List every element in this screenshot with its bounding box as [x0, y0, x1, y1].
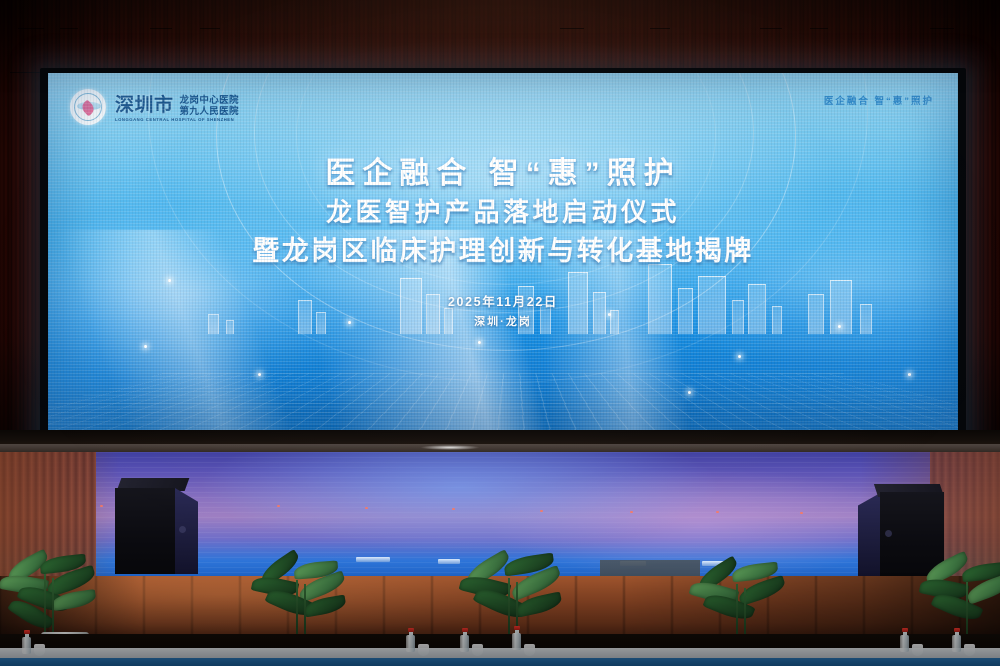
- stage-floor-object-midl: [438, 559, 460, 564]
- wall-seam: [810, 28, 828, 29]
- water-bottle: [406, 628, 416, 652]
- wall-seam: [760, 28, 782, 29]
- wall-seam: [10, 72, 40, 73]
- paper-cup: [524, 644, 535, 656]
- front-row-table-skirt: [0, 658, 1000, 666]
- led-screen: 深圳市 龙岗中心医院 第九人民医院 LONGGANG CENTRAL HOSPI…: [48, 73, 958, 430]
- lip-light-glint: [420, 445, 480, 450]
- paper-cup: [912, 644, 923, 656]
- water-bottle: [900, 628, 910, 652]
- wall-seam: [650, 28, 670, 29]
- paper-cup: [472, 644, 483, 656]
- water-bottle: [952, 628, 962, 652]
- wall-seam: [60, 28, 78, 29]
- wall-seam: [930, 28, 954, 29]
- wall-seam: [18, 28, 44, 29]
- conference-hall-photo: 深圳市 龙岗中心医院 第九人民医院 LONGGANG CENTRAL HOSPI…: [0, 0, 1000, 666]
- water-bottle: [460, 628, 470, 652]
- paper-cup: [34, 644, 45, 656]
- led-screen-bezel: 深圳市 龙岗中心医院 第九人民医院 LONGGANG CENTRAL HOSPI…: [40, 68, 966, 450]
- water-bottle: [22, 630, 32, 654]
- paper-cup: [964, 644, 975, 656]
- wall-seam: [560, 28, 584, 29]
- water-bottle: [512, 626, 522, 650]
- wall-seam: [200, 28, 220, 29]
- led-pixel-grid: [48, 73, 958, 430]
- paper-cup: [418, 644, 429, 656]
- wall-seam: [150, 28, 172, 29]
